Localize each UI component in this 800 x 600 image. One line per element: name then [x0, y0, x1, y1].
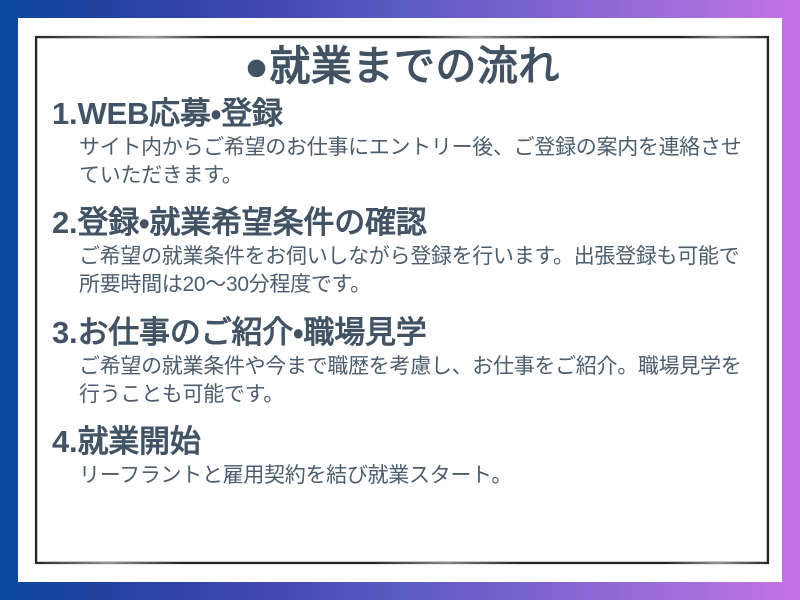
step-1-heading: 1.WEB応募・登録 [52, 94, 757, 134]
step-2-heading: 2.登録・就業希望条件の確認 [52, 203, 757, 243]
step-item-2: 2.登録・就業希望条件の確認 ご希望の就業条件をお伺いしながら登録を行います。出… [47, 203, 757, 299]
page-title: ●就業までの流れ [47, 44, 757, 90]
step-3-heading: 3.お仕事のご紹介・職場見学 [52, 313, 757, 353]
step-4-heading: 4.就業開始 [52, 422, 757, 462]
step-4-body: リーフラントと雇用契約を結び就業スタート。 [79, 462, 745, 490]
step-item-4: 4.就業開始 リーフラントと雇用契約を結び就業スタート。 [47, 422, 757, 490]
poster-gradient-frame: ●就業までの流れ 1.WEB応募・登録 サイト内からご希望のお仕事にエントリー後… [0, 0, 800, 600]
step-3-body: ご希望の就業条件や今まで職歴を考慮し、お仕事をご紹介。職場見学を行うことも可能で… [79, 353, 745, 409]
step-item-1: 1.WEB応募・登録 サイト内からご希望のお仕事にエントリー後、ご登録の案内を連… [47, 94, 757, 190]
step-2-body: ご希望の就業条件をお伺いしながら登録を行います。出張登録も可能で所要時間は20〜… [79, 243, 745, 299]
step-1-body: サイト内からご希望のお仕事にエントリー後、ご登録の案内を連絡させていただきます。 [79, 134, 745, 190]
poster-content: ●就業までの流れ 1.WEB応募・登録 サイト内からご希望のお仕事にエントリー後… [35, 36, 769, 564]
step-item-3: 3.お仕事のご紹介・職場見学 ご希望の就業条件や今まで職歴を考慮し、お仕事をご紹… [47, 313, 757, 409]
